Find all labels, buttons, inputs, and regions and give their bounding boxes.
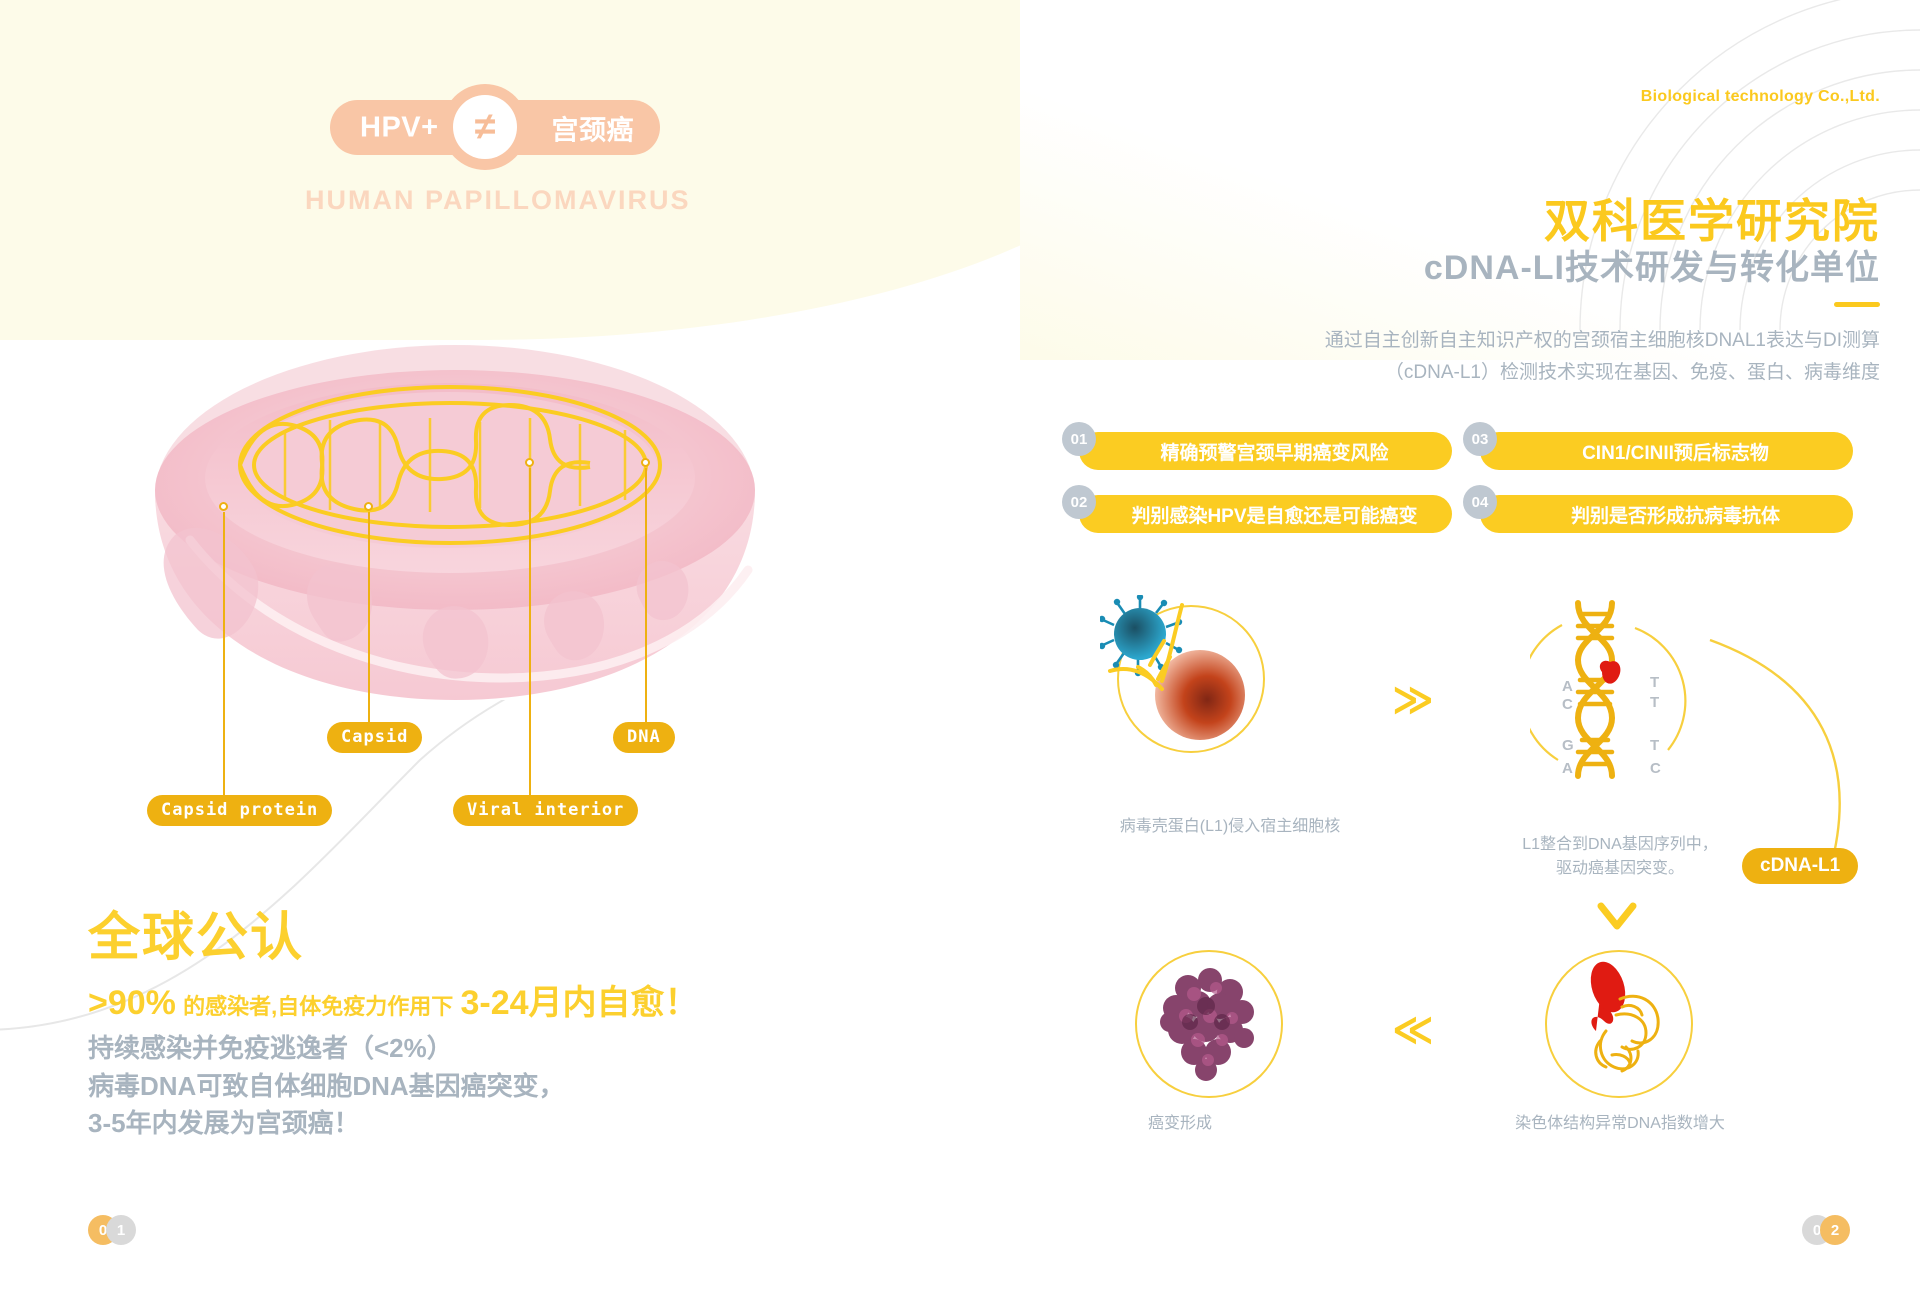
feature-label-01: 精确预警宫颈早期癌变风险 [1079, 438, 1452, 465]
feature-item-01[interactable]: 01 精确预警宫颈早期癌变风险 [1062, 432, 1452, 470]
dna-base-label-c1: C [1562, 696, 1573, 713]
title-divider [1834, 302, 1880, 307]
process-caption-step3: 染色体结构异常DNA指数增大 [1470, 1112, 1770, 1136]
chevron-left-icon: ≪ [1392, 1010, 1434, 1050]
callout-label-capsid: Capsid [327, 722, 422, 753]
chevron-right-icon: ≫ [1392, 680, 1434, 720]
global-body-line-1: 持续感染并免疫逃逸者（<2%） [88, 1030, 565, 1068]
feature-number-03: 03 [1463, 422, 1497, 456]
feature-bar-02: 判别感染HPV是自愈还是可能癌变 [1079, 495, 1452, 533]
global-stat-middle: 的感染者,自体免疫力作用下 [183, 994, 453, 1019]
cdna-l1-badge: cDNA-L1 [1742, 848, 1858, 884]
feature-label-03: CIN1/CINII预后标志物 [1480, 438, 1853, 465]
callout-dot-capsid [364, 502, 373, 511]
hpv-subtitle: HUMAN PAPILLOMAVIRUS [305, 185, 691, 216]
dna-base-label-a2: A [1562, 760, 1573, 777]
dna-base-label-t3: T [1650, 737, 1659, 754]
callout-dot-capsid-protein [219, 502, 228, 511]
callout-line-viral-interior [529, 468, 531, 802]
institute-description-line-2: （cDNA-L1）检测技术实现在基因、免疫、蛋白、病毒维度 [1325, 357, 1880, 389]
feature-bar-01: 精确预警宫颈早期癌变风险 [1079, 432, 1452, 470]
institute-description: 通过自主创新自主知识产权的宫颈宿主细胞核DNAL1表达与DI测算 （cDNA-L… [1325, 325, 1880, 390]
institute-subtitle: cDNA-LI技术研发与转化单位 [1424, 240, 1880, 289]
dna-base-label-g1: G [1562, 737, 1574, 754]
chromosome-illustration [1560, 955, 1690, 1095]
tumor-illustration [1150, 960, 1275, 1090]
callout-line-capsid [368, 512, 370, 727]
dna-base-label-c2: C [1650, 760, 1661, 777]
feature-label-02: 判别感染HPV是自愈还是可能癌变 [1079, 501, 1452, 528]
hpv-badge-left-text: HPV+ [360, 111, 439, 144]
callout-line-dna [645, 468, 647, 727]
dna-base-label-t1: T [1650, 674, 1659, 691]
page-number-right: 0 2 [1802, 1215, 1850, 1245]
feature-number-04: 04 [1463, 485, 1497, 519]
not-equal-badge: ≠ [442, 84, 528, 170]
dna-base-label-t2: T [1650, 694, 1659, 711]
global-body-line-2: 病毒DNA可致自体细胞DNA基因癌突变， [88, 1068, 565, 1106]
page-number-left: 0 1 [88, 1215, 136, 1245]
page-number-right-digit-2: 2 [1820, 1215, 1850, 1245]
page-number-left-digit-2: 1 [106, 1215, 136, 1245]
callout-line-capsid-protein [223, 512, 225, 802]
feature-item-04[interactable]: 04 判别是否形成抗病毒抗体 [1463, 495, 1853, 533]
feature-item-02[interactable]: 02 判别感染HPV是自愈还是可能癌变 [1062, 495, 1452, 533]
feature-item-03[interactable]: 03 CIN1/CINII预后标志物 [1463, 432, 1853, 470]
dna-base-label-a1: A [1562, 678, 1573, 695]
feature-number-01: 01 [1062, 422, 1096, 456]
callout-label-dna: DNA [613, 722, 675, 753]
process-caption-step4: 癌变形成 [1060, 1112, 1300, 1136]
virus-cell-entry-illustration [1100, 595, 1290, 775]
global-stat-line: >90% 的感染者,自体免疫力作用下 3-24月内自愈！ [88, 975, 699, 1024]
callout-dot-dna [641, 458, 650, 467]
global-stat-percent: >90% [88, 984, 176, 1022]
callout-label-capsid-protein: Capsid protein [147, 795, 332, 826]
company-tagline: Biological technology Co.,Ltd. [1641, 88, 1880, 106]
chevron-down-icon [1595, 900, 1639, 936]
feature-bar-04: 判别是否形成抗病毒抗体 [1480, 495, 1853, 533]
feature-number-02: 02 [1062, 485, 1096, 519]
feature-label-04: 判别是否形成抗病毒抗体 [1480, 501, 1853, 528]
callout-dot-viral-interior [525, 458, 534, 467]
global-title: 全球公认 [88, 895, 304, 970]
global-stat-tail: 3-24月内自愈！ [461, 984, 699, 1022]
hpv-badge-right-text: 宫颈癌 [552, 108, 635, 147]
dna-helix-illustration [1530, 600, 1710, 780]
background-cream-wash [0, 0, 1180, 340]
global-body-line-3: 3-5年内发展为宫颈癌！ [88, 1105, 565, 1143]
virus-bowl-illustration [80, 300, 840, 720]
institute-description-line-1: 通过自主创新自主知识产权的宫颈宿主细胞核DNAL1表达与DI测算 [1325, 325, 1880, 357]
global-body-text: 持续感染并免疫逃逸者（<2%） 病毒DNA可致自体细胞DNA基因癌突变， 3-5… [88, 1030, 565, 1143]
callout-label-viral-interior: Viral interior [453, 795, 638, 826]
feature-bar-03: CIN1/CINII预后标志物 [1480, 432, 1853, 470]
not-equal-icon: ≠ [453, 95, 517, 159]
process-caption-step1: 病毒壳蛋白(L1)侵入宿主细胞核 [1020, 815, 1440, 839]
